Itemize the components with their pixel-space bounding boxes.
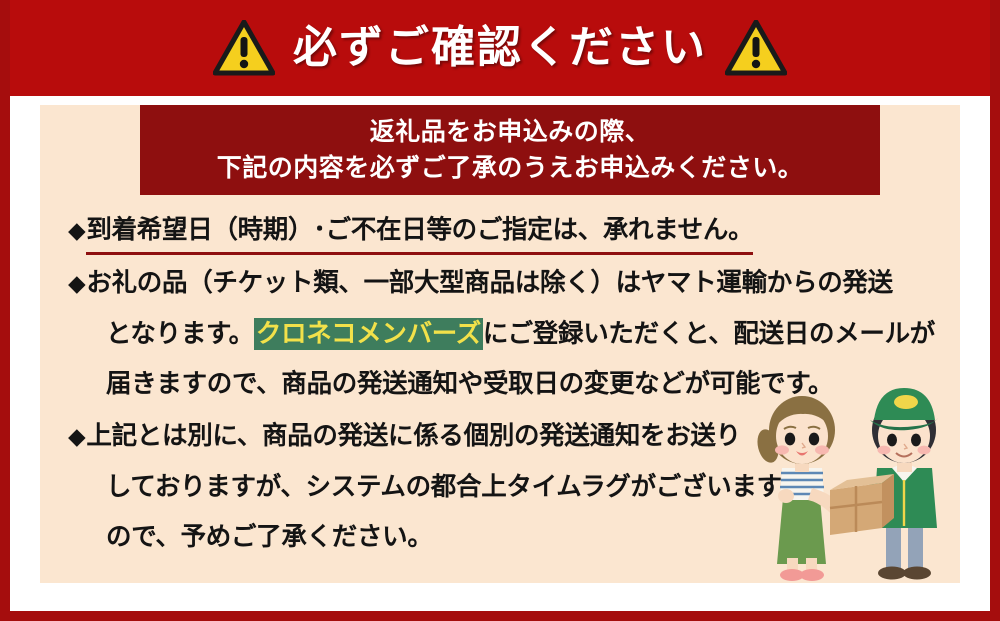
warning-triangle-icon xyxy=(725,20,787,76)
kuroneko-members-highlight: クロネコメンバーズ xyxy=(254,318,483,350)
diamond-bullet-icon: ◆ xyxy=(68,218,85,244)
bullet-text-pre: となります。 xyxy=(106,319,254,349)
bullet-text: ので、予めご了承ください。 xyxy=(106,522,433,552)
notice-banner: 必ずご確認ください 返礼品をお申込みの際、 下記の内容を必ずご了承のうえお申込み… xyxy=(0,0,1000,621)
bullet-line: ◆到着希望日（時期）･ご不在日等のご指定は、承れません。 xyxy=(68,205,938,256)
notice-bullet-list: ◆到着希望日（時期）･ご不在日等のご指定は、承れません。 ◆お礼の品（チケット類… xyxy=(68,205,938,564)
bullet-line: しておりますが、システムの都合上タイムラグがございます xyxy=(68,462,938,512)
bullet-line: 届きますので、商品の発送通知や受取日の変更などが可能です。 xyxy=(68,359,938,409)
warning-triangle-icon xyxy=(213,20,275,76)
diamond-bullet-icon: ◆ xyxy=(68,271,85,297)
bullet-text: 到着希望日（時期）･ご不在日等のご指定は、承れません。 xyxy=(86,210,753,255)
bullet-line: ◆上記とは別に、商品の発送に係る個別の発送通知をお送り xyxy=(68,411,938,462)
bullet-text: 届きますので、商品の発送通知や受取日の変更などが可能です。 xyxy=(106,369,833,399)
bullet-text-post: にご登録いただくと、配送日のメールが xyxy=(483,319,935,349)
list-item: ◆到着希望日（時期）･ご不在日等のご指定は、承れません。 xyxy=(68,205,938,256)
bullet-line: となります。クロネコメンバーズにご登録いただくと、配送日のメールが xyxy=(68,309,938,359)
bullet-line: ので、予めご了承ください。 xyxy=(68,512,938,562)
bullet-text: お礼の品（チケット類、一部大型商品は除く）はヤマト運輸からの発送 xyxy=(86,268,892,298)
diamond-bullet-icon: ◆ xyxy=(68,424,85,450)
bullet-line: ◆お礼の品（チケット類、一部大型商品は除く）はヤマト運輸からの発送 xyxy=(68,258,938,309)
content-panel: 返礼品をお申込みの際、 下記の内容を必ずご了承のうえお申込みください。 ◆到着希… xyxy=(40,105,960,583)
page-title: 必ずご確認ください xyxy=(293,26,707,70)
bullet-text: 上記とは別に、商品の発送に係る個別の発送通知をお送り xyxy=(86,421,740,451)
callout-box: 返礼品をお申込みの際、 下記の内容を必ずご了承のうえお申込みください。 xyxy=(140,105,880,195)
header-band: 必ずご確認ください xyxy=(0,0,1000,96)
bullet-text: しておりますが、システムの都合上タイムラグがございます xyxy=(106,472,782,502)
callout-line-1: 返礼品をお申込みの際、 xyxy=(370,115,651,149)
list-item: ◆お礼の品（チケット類、一部大型商品は除く）はヤマト運輸からの発送 となります。… xyxy=(68,258,938,409)
list-item: ◆上記とは別に、商品の発送に係る個別の発送通知をお送り しておりますが、システム… xyxy=(68,411,938,562)
callout-line-2: 下記の内容を必ずご了承のうえお申込みください。 xyxy=(217,151,804,185)
